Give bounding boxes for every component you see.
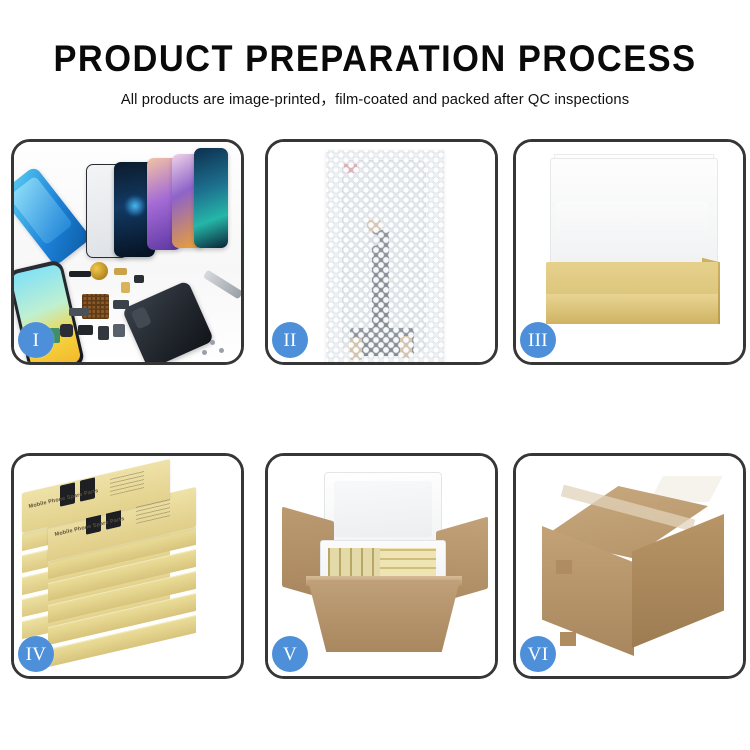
small-part-icon bbox=[98, 326, 109, 340]
foam-lid-icon bbox=[324, 472, 442, 546]
step-badge-4: IV bbox=[18, 636, 54, 672]
small-part-icon bbox=[121, 282, 130, 293]
yellow-box-front-icon bbox=[546, 294, 718, 324]
step-numeral-5: V bbox=[283, 645, 297, 664]
step-badge-2: II bbox=[272, 322, 308, 358]
small-part-icon bbox=[69, 308, 89, 316]
process-step-grid: I II bbox=[11, 139, 739, 679]
small-part-icon bbox=[114, 268, 127, 275]
small-part-icon bbox=[113, 324, 125, 337]
header: PRODUCT PREPARATION PROCESS All products… bbox=[0, 0, 750, 110]
page-title: PRODUCT PREPARATION PROCESS bbox=[26, 0, 724, 81]
bubble-wrap-overlay bbox=[326, 150, 444, 362]
screw-icon bbox=[210, 340, 215, 345]
step-card-2[interactable]: II bbox=[265, 139, 498, 365]
copper-coil-icon bbox=[90, 262, 108, 280]
small-part-icon bbox=[78, 325, 93, 335]
step-numeral-4: IV bbox=[26, 645, 47, 664]
step-card-4[interactable]: Mobile Phone Spare Parts Mobile Phone Sp… bbox=[11, 453, 244, 679]
phone-blue-lcd-icon bbox=[14, 166, 91, 267]
screw-icon bbox=[202, 350, 207, 355]
step-card-3[interactable]: III bbox=[513, 139, 746, 365]
step-numeral-1: I bbox=[33, 331, 40, 350]
small-part-icon bbox=[60, 324, 73, 337]
small-part-icon bbox=[69, 271, 91, 277]
step-card-1[interactable]: I bbox=[11, 139, 244, 365]
carton-mark-icon bbox=[560, 632, 576, 646]
step-card-6[interactable]: VI bbox=[513, 453, 746, 679]
carton-mark-icon bbox=[556, 560, 572, 574]
phone-teal-display-icon bbox=[194, 148, 228, 248]
screw-icon bbox=[219, 348, 224, 353]
foam-sheet-icon bbox=[556, 202, 708, 268]
carton-body-icon bbox=[308, 580, 460, 652]
step-numeral-3: III bbox=[528, 331, 548, 350]
step-card-5[interactable]: V bbox=[265, 453, 498, 679]
product-preparation-infographic: PRODUCT PREPARATION PROCESS All products… bbox=[0, 0, 750, 750]
phone-back-housing-icon bbox=[122, 280, 215, 362]
small-part-icon bbox=[134, 275, 144, 283]
small-part-icon bbox=[113, 300, 129, 309]
step-badge-6: VI bbox=[520, 636, 556, 672]
step-numeral-6: VI bbox=[528, 645, 549, 664]
tweezers-icon bbox=[203, 270, 241, 300]
step-badge-5: V bbox=[272, 636, 308, 672]
page-subtitle: All products are image-printed，film-coat… bbox=[11, 81, 739, 110]
step-numeral-2: II bbox=[283, 331, 296, 350]
step-badge-1: I bbox=[18, 322, 54, 358]
step-badge-3: III bbox=[520, 322, 556, 358]
